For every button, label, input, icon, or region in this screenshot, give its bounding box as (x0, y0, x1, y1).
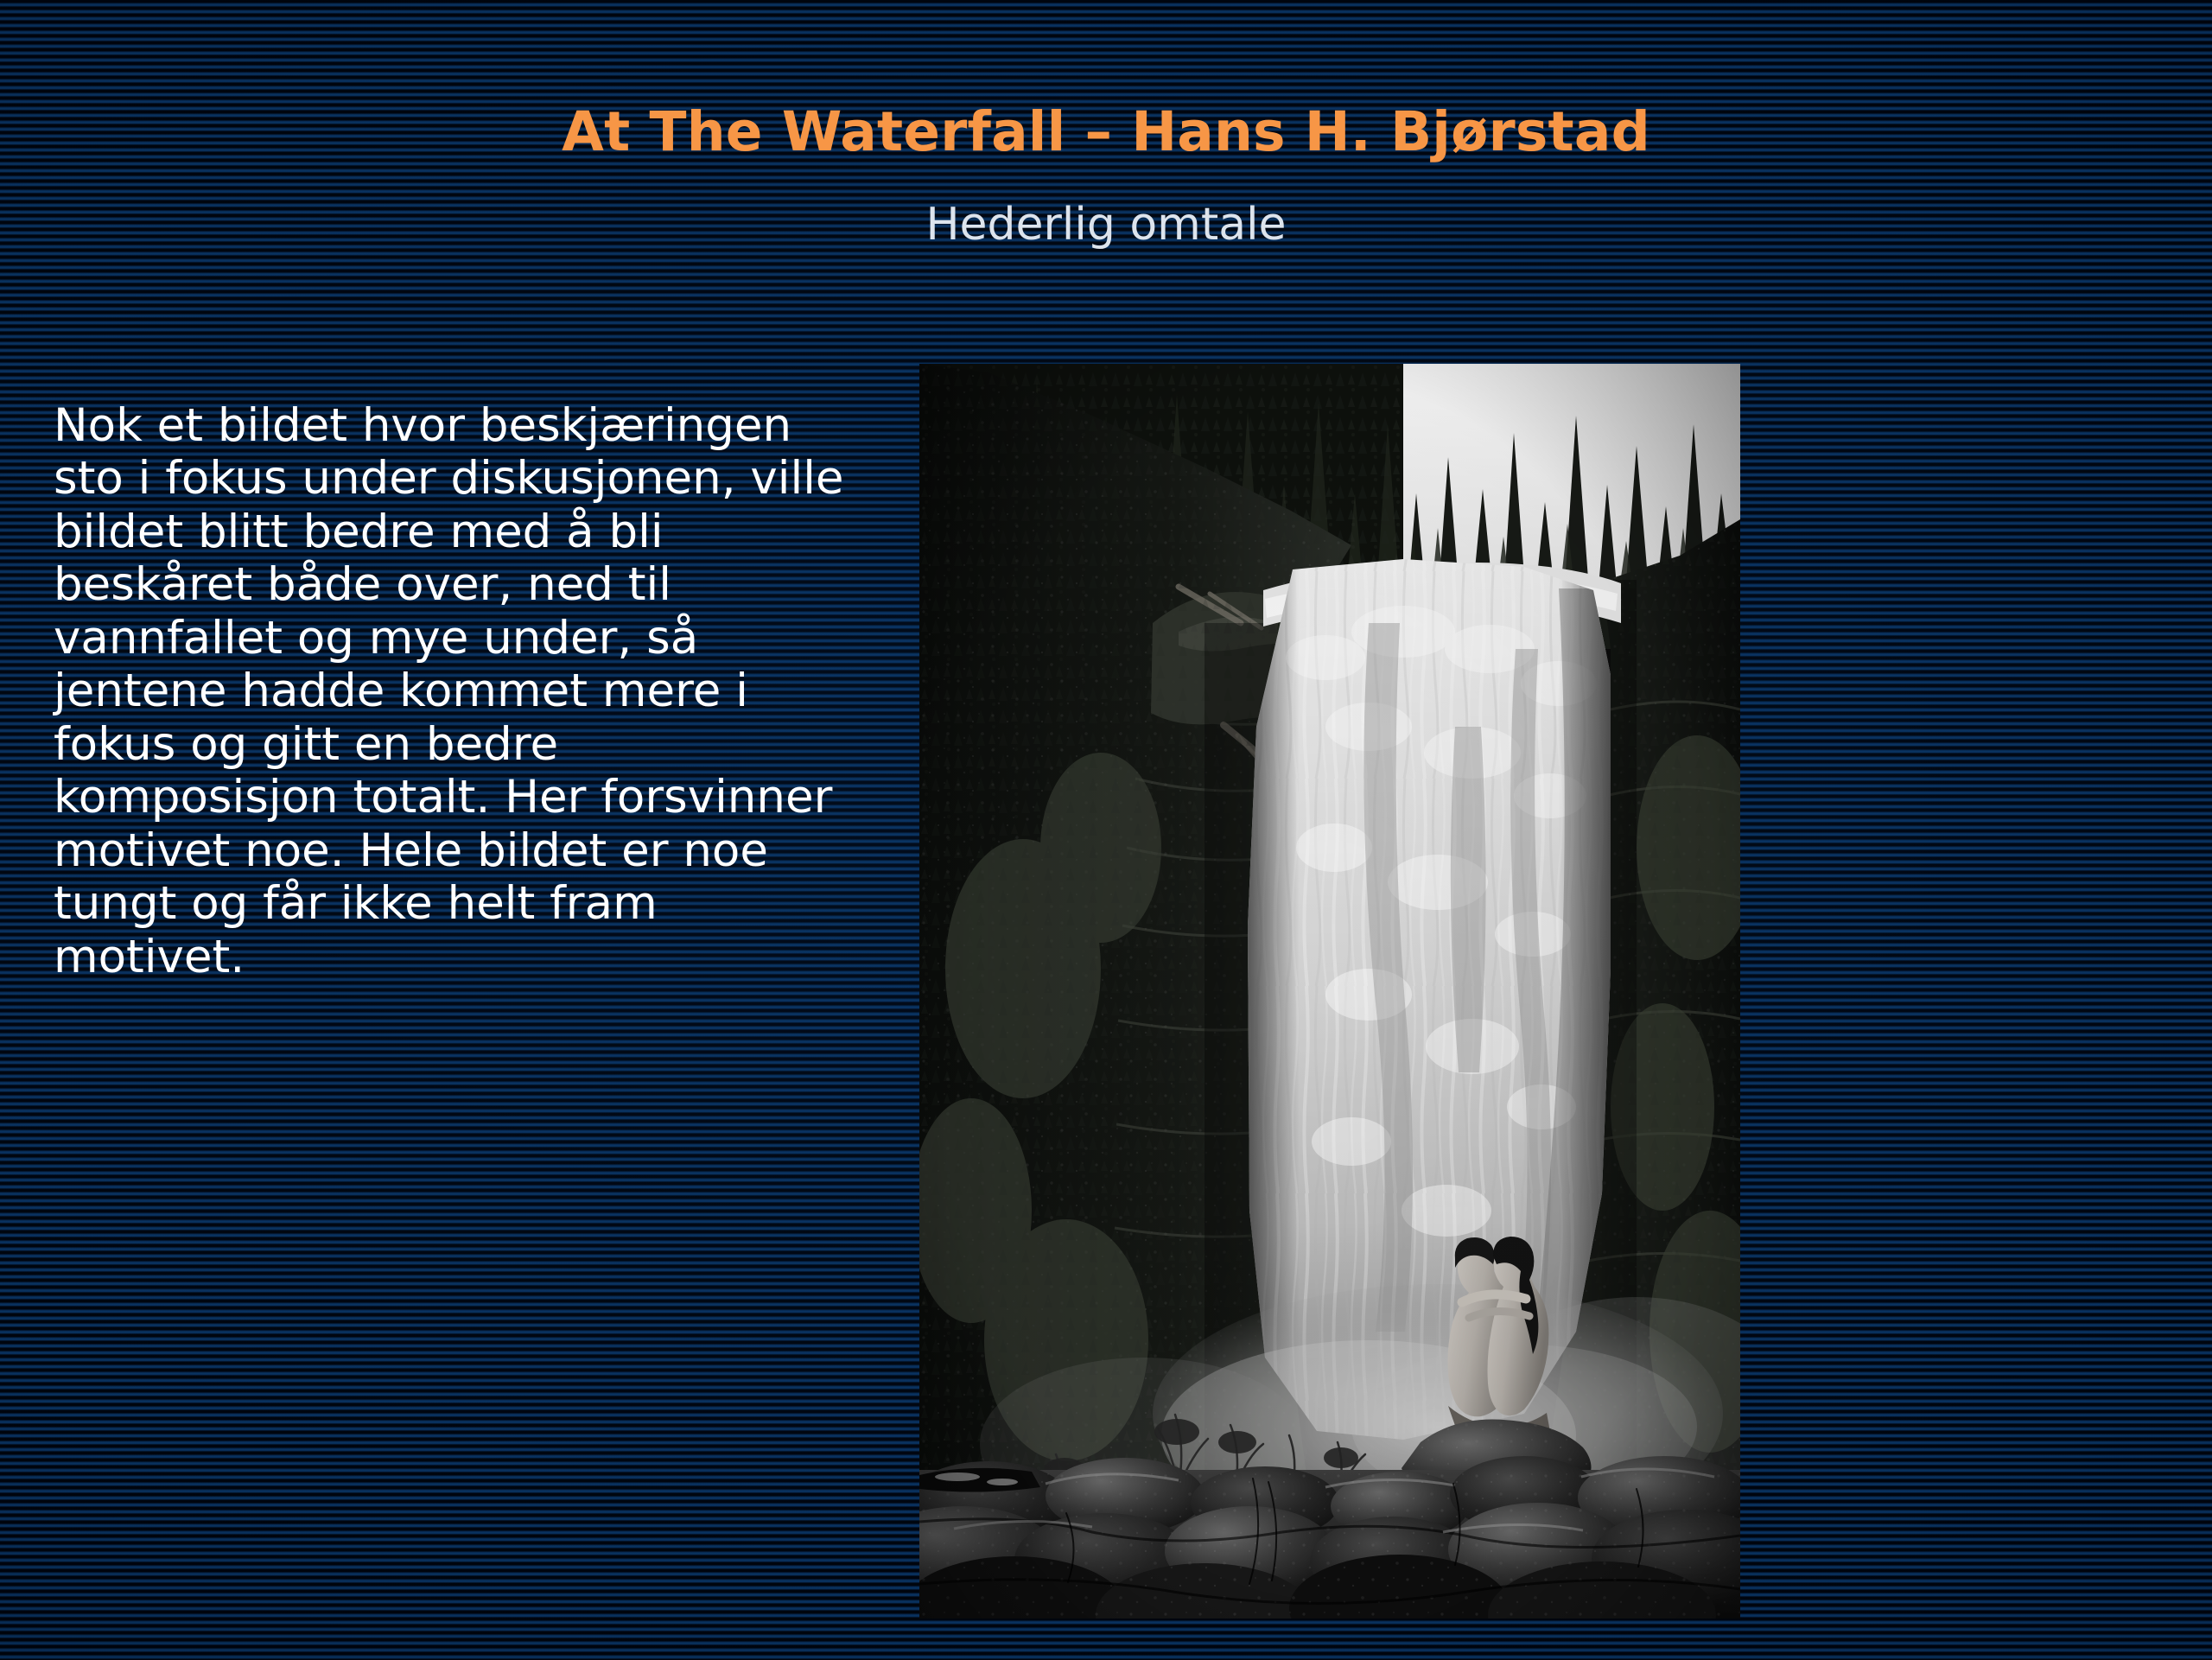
page-title: At The Waterfall – Hans H. Bjørstad (0, 102, 2212, 162)
waterfall-photo-graphic (919, 364, 1740, 1619)
waterfall-photograph (919, 364, 1740, 1619)
critique-body-text: Nok et bildet hvor beskjæringen sto i fo… (54, 399, 853, 983)
slide-subtitle: Hederlig omtale (0, 200, 2212, 250)
presentation-slide: At The Waterfall – Hans H. Bjørstad Hede… (0, 0, 2212, 1660)
